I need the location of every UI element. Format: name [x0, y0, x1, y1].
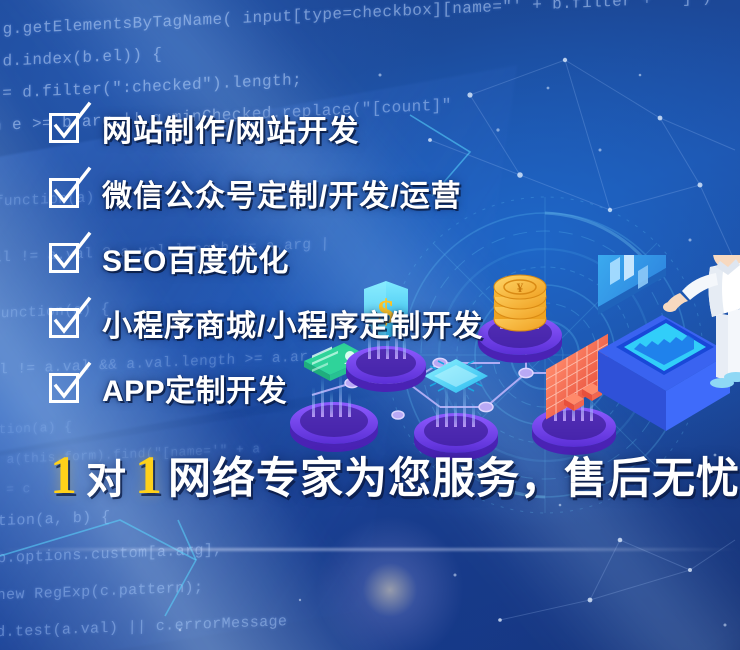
feature-item-miniapp[interactable]: 小程序商城/小程序定制开发 [50, 295, 680, 351]
headline-word: 对 [86, 460, 126, 500]
feature-item-app[interactable]: APP定制开发 [50, 360, 680, 416]
checkbox-checked-icon[interactable] [50, 243, 80, 273]
feature-label: 网站制作/网站开发 [102, 106, 359, 150]
background-code-bottom: nction(a, b) { = b.options.custom[a.arg]… [0, 492, 289, 650]
headline-main-text: 网络专家为您服务，售后无忧！ [168, 458, 740, 501]
feature-label: SEO百度优化 [102, 236, 289, 280]
headline-number-second: 1 [135, 448, 162, 502]
promo-banner: g.getElementsByTagName( input[type=check… [0, 0, 740, 650]
lens-flare [310, 510, 470, 650]
feature-label: 微信公众号定制/开发/运营 [102, 171, 462, 215]
feature-item-seo[interactable]: SEO百度优化 [50, 230, 680, 286]
service-feature-list: 网站制作/网站开发 微信公众号定制/开发/运营 SEO百度优化 [50, 100, 680, 425]
feature-label: APP定制开发 [102, 366, 287, 410]
checkbox-checked-icon[interactable] [50, 113, 80, 143]
feature-item-wechat[interactable]: 微信公众号定制/开发/运营 [50, 165, 680, 221]
checkbox-checked-icon[interactable] [50, 373, 80, 403]
headline: 1 对 1 网络专家为您服务，售后无忧！ [50, 448, 740, 502]
headline-number-first: 1 [50, 448, 77, 502]
feature-label: 小程序商城/小程序定制开发 [102, 301, 483, 345]
lens-flare-streak [0, 548, 740, 551]
feature-item-website[interactable]: 网站制作/网站开发 [50, 100, 680, 156]
checkbox-checked-icon[interactable] [50, 308, 80, 338]
checkbox-checked-icon[interactable] [50, 178, 80, 208]
